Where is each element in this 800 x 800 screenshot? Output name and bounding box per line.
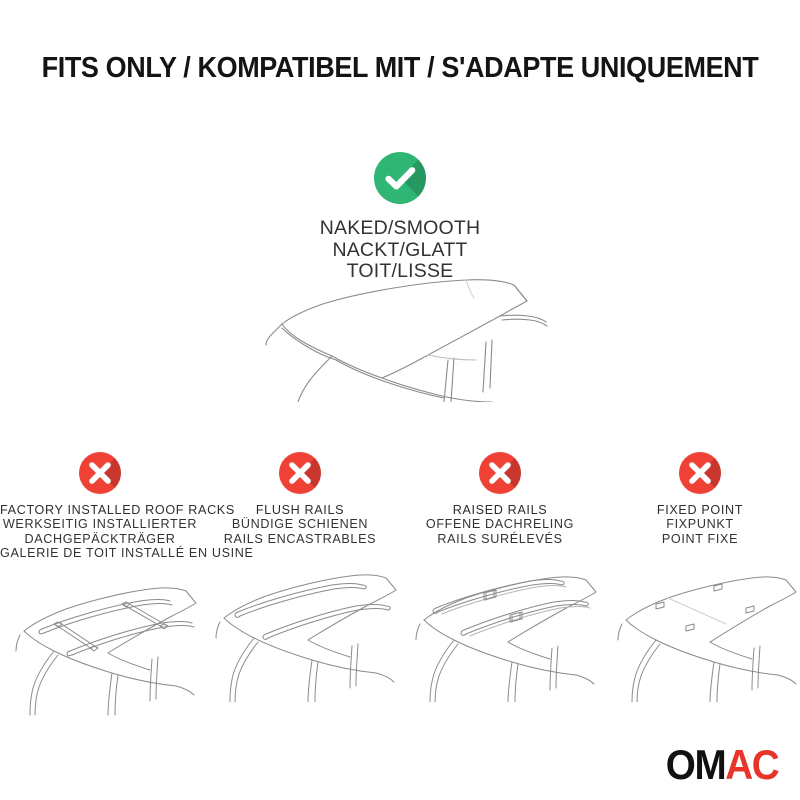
caption-line-1: RAISED RAILS <box>400 503 600 517</box>
option-fixed-point: FIXED POINT FIXPUNKT POINT FIXE <box>600 452 800 702</box>
option-raised-rails: RAISED RAILS OFFENE DACHRELING RAILS SUR… <box>400 452 600 702</box>
logo-text-part2: AC <box>725 741 778 788</box>
caption-line-3: POINT FIXE <box>600 532 800 546</box>
option-caption: FACTORY INSTALLED ROOF RACKS WERKSEITIG … <box>0 503 200 561</box>
option-caption: RAISED RAILS OFFENE DACHRELING RAILS SUR… <box>400 503 600 546</box>
compatible-roof-section: NAKED/SMOOTH NACKT/GLATT TOIT/LISSE <box>0 152 800 283</box>
smooth-roof-illustration <box>252 272 552 402</box>
caption-line-3: DACHGEPÄCKTRÄGER <box>0 532 200 546</box>
omac-logo: OMAC <box>665 744 778 786</box>
caption-line-3: RAILS SURÉLEVÉS <box>400 532 600 546</box>
x-circle-icon <box>479 452 521 494</box>
option-flush-rails: FLUSH RAILS BÜNDIGE SCHIENEN RAILS ENCAS… <box>200 452 400 702</box>
caption-line-1: FLUSH RAILS <box>200 503 400 517</box>
x-circle-icon <box>79 452 121 494</box>
flush-rails-illustration <box>200 552 400 702</box>
option-caption: FIXED POINT FIXPUNKT POINT FIXE <box>600 503 800 546</box>
fixed-point-roof-illustration <box>600 552 800 702</box>
caption-line-4: GALERIE DE TOIT INSTALLÉ EN USINE <box>0 546 200 560</box>
caption-line-1: FACTORY INSTALLED ROOF RACKS <box>0 503 200 517</box>
check-circle-icon <box>374 152 426 204</box>
caption-line-2: BÜNDIGE SCHIENEN <box>200 517 400 531</box>
caption-line-2: OFFENE DACHRELING <box>400 517 600 531</box>
option-factory-roof-racks: FACTORY INSTALLED ROOF RACKS WERKSEITIG … <box>0 452 200 717</box>
roof-with-crossbars-illustration <box>0 567 200 717</box>
x-circle-icon <box>679 452 721 494</box>
option-caption: FLUSH RAILS BÜNDIGE SCHIENEN RAILS ENCAS… <box>200 503 400 546</box>
raised-rails-illustration <box>400 552 600 702</box>
caption-line-2: FIXPUNKT <box>600 517 800 531</box>
caption-line-2: WERKSEITIG INSTALLIERTER <box>0 517 200 531</box>
incompatible-roof-options: FACTORY INSTALLED ROOF RACKS WERKSEITIG … <box>0 452 800 717</box>
caption-line-2: NACKT/GLATT <box>0 240 800 262</box>
page-title: FITS ONLY / KOMPATIBEL MIT / S'ADAPTE UN… <box>28 52 772 85</box>
x-circle-icon <box>279 452 321 494</box>
logo-text-part1: OM <box>665 741 724 788</box>
caption-line-1: NAKED/SMOOTH <box>0 218 800 240</box>
caption-line-1: FIXED POINT <box>600 503 800 517</box>
caption-line-3: RAILS ENCASTRABLES <box>200 532 400 546</box>
